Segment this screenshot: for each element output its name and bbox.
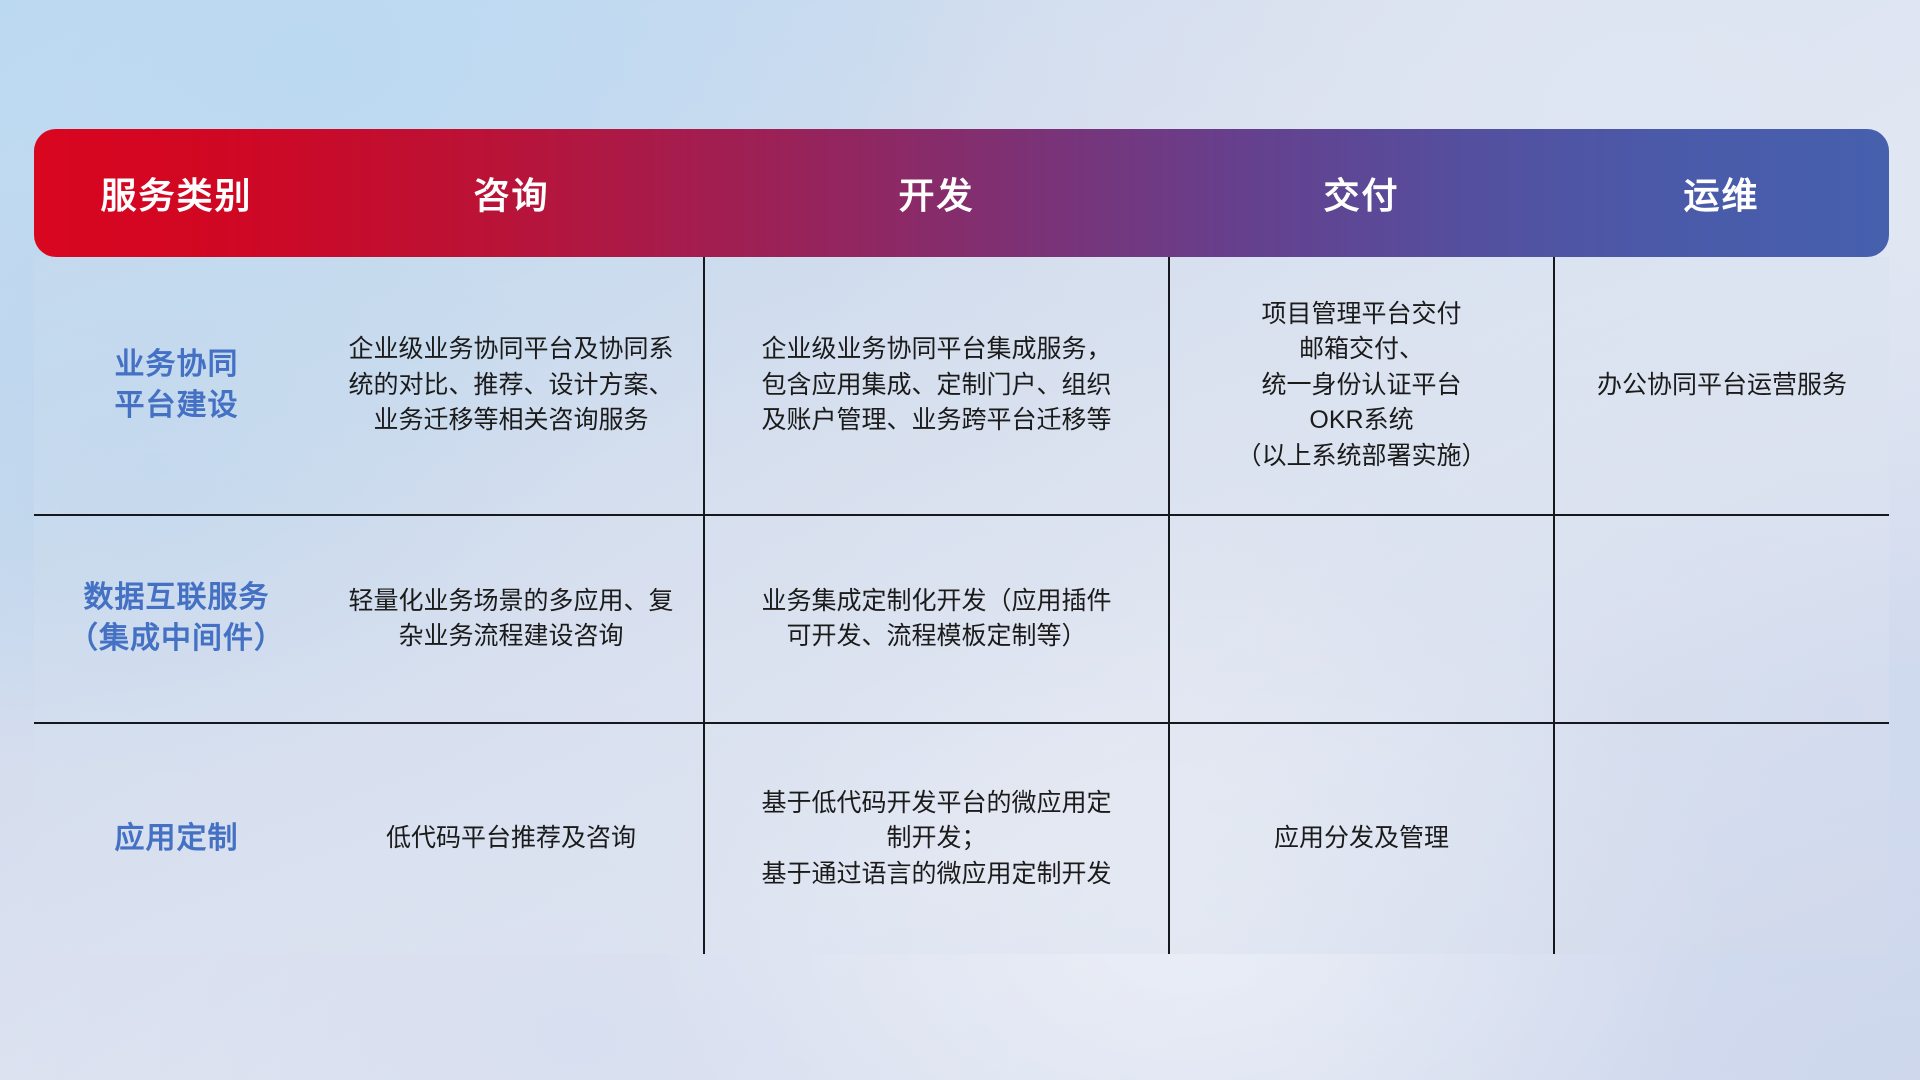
column-header-delivery: 交付	[1169, 129, 1554, 257]
cell-delivery: 应用分发及管理	[1169, 723, 1554, 954]
column-header-label: 咨询	[473, 175, 549, 216]
row-category-label: 应用定制	[34, 723, 319, 954]
cell-development: 企业级业务协同平台集成服务， 包含应用集成、定制门户、组织 及账户管理、业务跨平…	[704, 257, 1169, 515]
cell-development: 业务集成定制化开发（应用插件 可开发、流程模板定制等）	[704, 515, 1169, 723]
column-header-label: 开发	[898, 175, 974, 216]
cell-operations	[1554, 723, 1889, 954]
column-header-label: 运维	[1683, 175, 1759, 216]
cell-consulting: 轻量化业务场景的多应用、复 杂业务流程建设咨询	[319, 515, 704, 723]
cell-delivery: 项目管理平台交付 邮箱交付、 统一身份认证平台 OKR系统 （以上系统部署实施）	[1169, 257, 1554, 515]
cell-consulting: 企业级业务协同平台及协同系 统的对比、推荐、设计方案、 业务迁移等相关咨询服务	[319, 257, 704, 515]
column-header-label: 服务类别	[100, 175, 252, 216]
cell-operations: 办公协同平台运营服务	[1554, 257, 1889, 515]
column-header-consulting: 咨询	[319, 129, 704, 257]
table-row: 应用定制 低代码平台推荐及咨询 基于低代码开发平台的微应用定 制开发； 基于通过…	[34, 723, 1889, 954]
table-header-row: 服务类别 咨询 开发 交付 运维	[34, 129, 1889, 257]
column-header-label: 交付	[1323, 175, 1399, 216]
column-header-service-category: 服务类别	[34, 129, 319, 257]
service-matrix-table: 服务类别 咨询 开发 交付 运维 业务协同 平台建设 企业级业务协同平台及协	[34, 129, 1889, 954]
cell-delivery	[1169, 515, 1554, 723]
row-category-label: 业务协同 平台建设	[34, 257, 319, 515]
cell-operations	[1554, 515, 1889, 723]
column-header-development: 开发	[704, 129, 1169, 257]
table-row: 业务协同 平台建设 企业级业务协同平台及协同系 统的对比、推荐、设计方案、 业务…	[34, 257, 1889, 515]
table-row: 数据互联服务 （集成中间件） 轻量化业务场景的多应用、复 杂业务流程建设咨询 业…	[34, 515, 1889, 723]
cell-development: 基于低代码开发平台的微应用定 制开发； 基于通过语言的微应用定制开发	[704, 723, 1169, 954]
row-category-label: 数据互联服务 （集成中间件）	[34, 515, 319, 723]
column-header-operations: 运维	[1554, 129, 1889, 257]
cell-consulting: 低代码平台推荐及咨询	[319, 723, 704, 954]
